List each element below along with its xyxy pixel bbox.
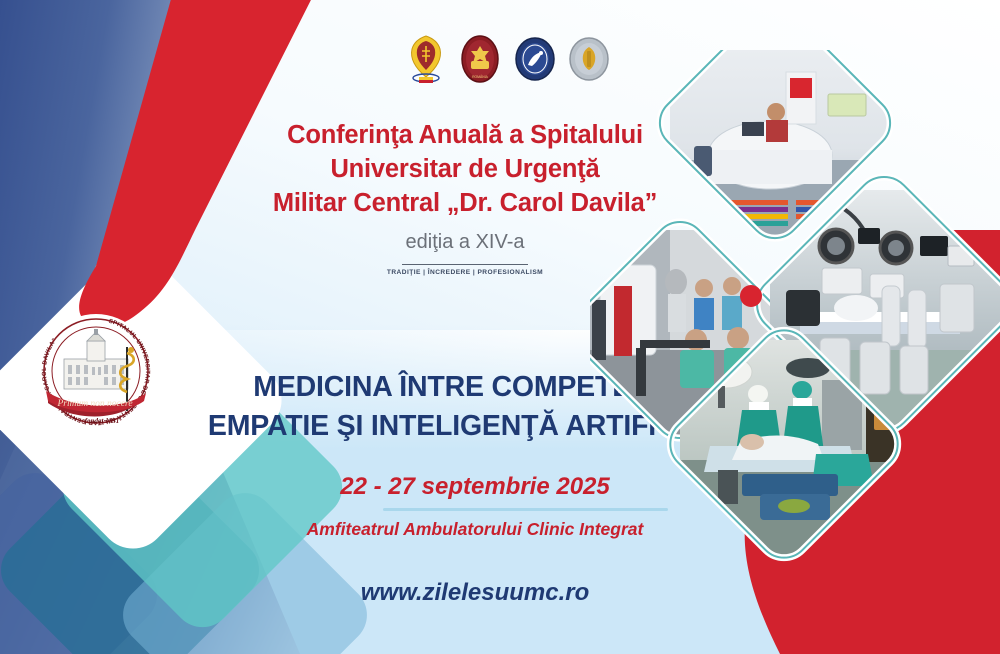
event-website-url[interactable]: www.zilelesuumc.ro <box>230 579 720 607</box>
tagline-divider <box>402 264 528 265</box>
ministry-of-defence-emblem: ROMÂNIA <box>459 33 501 85</box>
hospital-seal: SPITALUL UNIVERSITAR DE URGENŢĂ MILITAR … <box>32 307 160 435</box>
collage-red-dot-accent <box>740 285 762 307</box>
conference-banner: ROMÂNIA Conferinţa Anuală a Spitalului <box>0 0 1000 654</box>
founded-text: fondat 1831 <box>85 417 119 425</box>
photo-collage <box>590 50 1000 570</box>
military-medical-directorate-emblem <box>514 33 556 85</box>
romanian-coat-of-arms-emblem <box>405 33 447 85</box>
institutional-emblems-row: ROMÂNIA <box>405 28 610 90</box>
motto-text: Primum non nocere <box>56 399 132 409</box>
svg-text:ROMÂNIA: ROMÂNIA <box>472 75 489 79</box>
